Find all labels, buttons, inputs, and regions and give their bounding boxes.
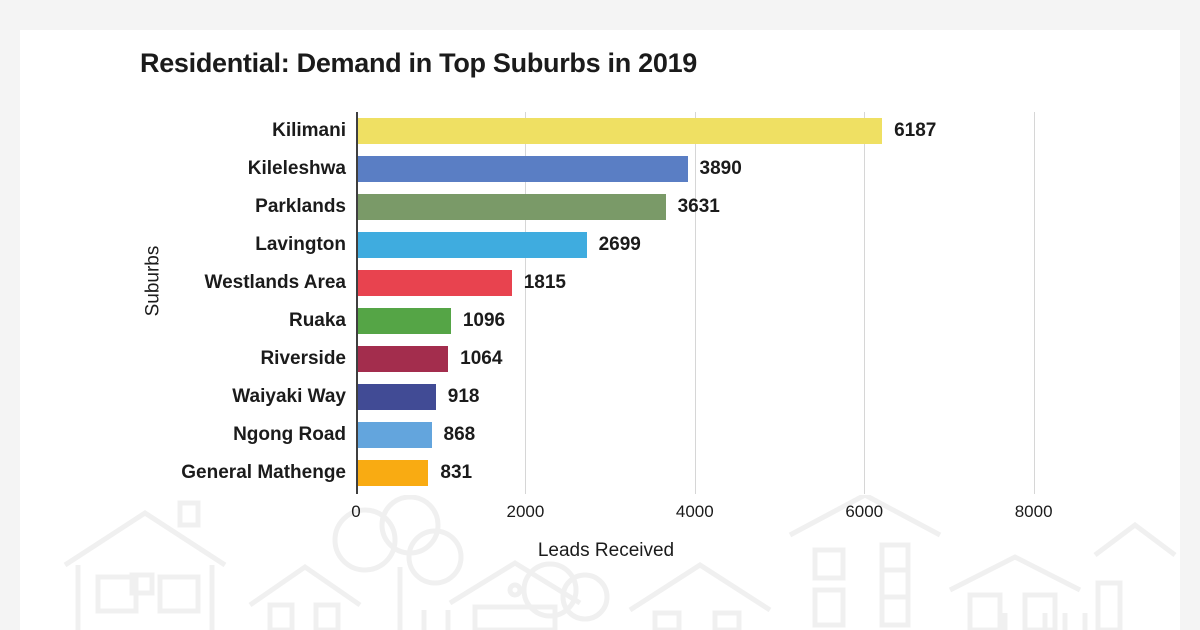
bar-value-label: 868 [444,422,476,448]
bar[interactable] [358,346,448,372]
bar-row: Parklands3631 [358,188,1076,226]
bar[interactable] [358,384,436,410]
bar-value-label: 1064 [460,346,502,372]
bar-value-label: 6187 [894,118,936,144]
bar-row: Kileleshwa3890 [358,150,1076,188]
chart-card: Residential: Demand in Top Suburbs in 20… [20,30,1180,630]
bar-row: Kilimani6187 [358,112,1076,150]
bar-value-label: 1096 [463,308,505,334]
plot-area: 02000400060008000 Kilimani6187Kileleshwa… [356,112,1076,494]
bar-rows: Kilimani6187Kileleshwa3890Parklands3631L… [358,112,1076,494]
bar[interactable] [358,156,688,182]
bar[interactable] [358,422,432,448]
bar[interactable] [358,118,882,144]
category-label: Ruaka [289,308,346,334]
bar-value-label: 831 [440,460,472,486]
bar-row: Westlands Area1815 [358,264,1076,302]
category-label: Ngong Road [233,422,346,448]
bar-row: Waiyaki Way918 [358,378,1076,416]
bar-row: Lavington2699 [358,226,1076,264]
x-axis-title: Leads Received [356,540,856,562]
x-tick-label: 0 [351,502,360,522]
bar[interactable] [358,194,666,220]
category-label: General Mathenge [181,460,346,486]
bar-value-label: 1815 [524,270,566,296]
bar-value-label: 2699 [599,232,641,258]
category-label: Parklands [255,194,346,220]
x-tick-label: 2000 [506,502,544,522]
category-label: Riverside [260,346,346,372]
chart-title: Residential: Demand in Top Suburbs in 20… [140,48,697,79]
bar-row: General Mathenge831 [358,454,1076,492]
bar[interactable] [358,232,587,258]
bar-value-label: 918 [448,384,480,410]
bar-value-label: 3890 [700,156,742,182]
category-label: Kilimani [272,118,346,144]
houses-illustration [20,495,1180,630]
bar[interactable] [358,270,512,296]
y-axis-title: Suburbs [142,246,164,317]
bar-row: Riverside1064 [358,340,1076,378]
bar-row: Ngong Road868 [358,416,1076,454]
bar-row: Ruaka1096 [358,302,1076,340]
x-tick-label: 4000 [676,502,714,522]
category-label: Lavington [255,232,346,258]
category-label: Westlands Area [205,270,347,296]
bar-value-label: 3631 [678,194,720,220]
x-tick-label: 8000 [1015,502,1053,522]
x-tick-label: 6000 [845,502,883,522]
category-label: Waiyaki Way [232,384,346,410]
bar[interactable] [358,460,428,486]
category-label: Kileleshwa [248,156,346,182]
chart-page: Residential: Demand in Top Suburbs in 20… [0,0,1200,630]
bar[interactable] [358,308,451,334]
